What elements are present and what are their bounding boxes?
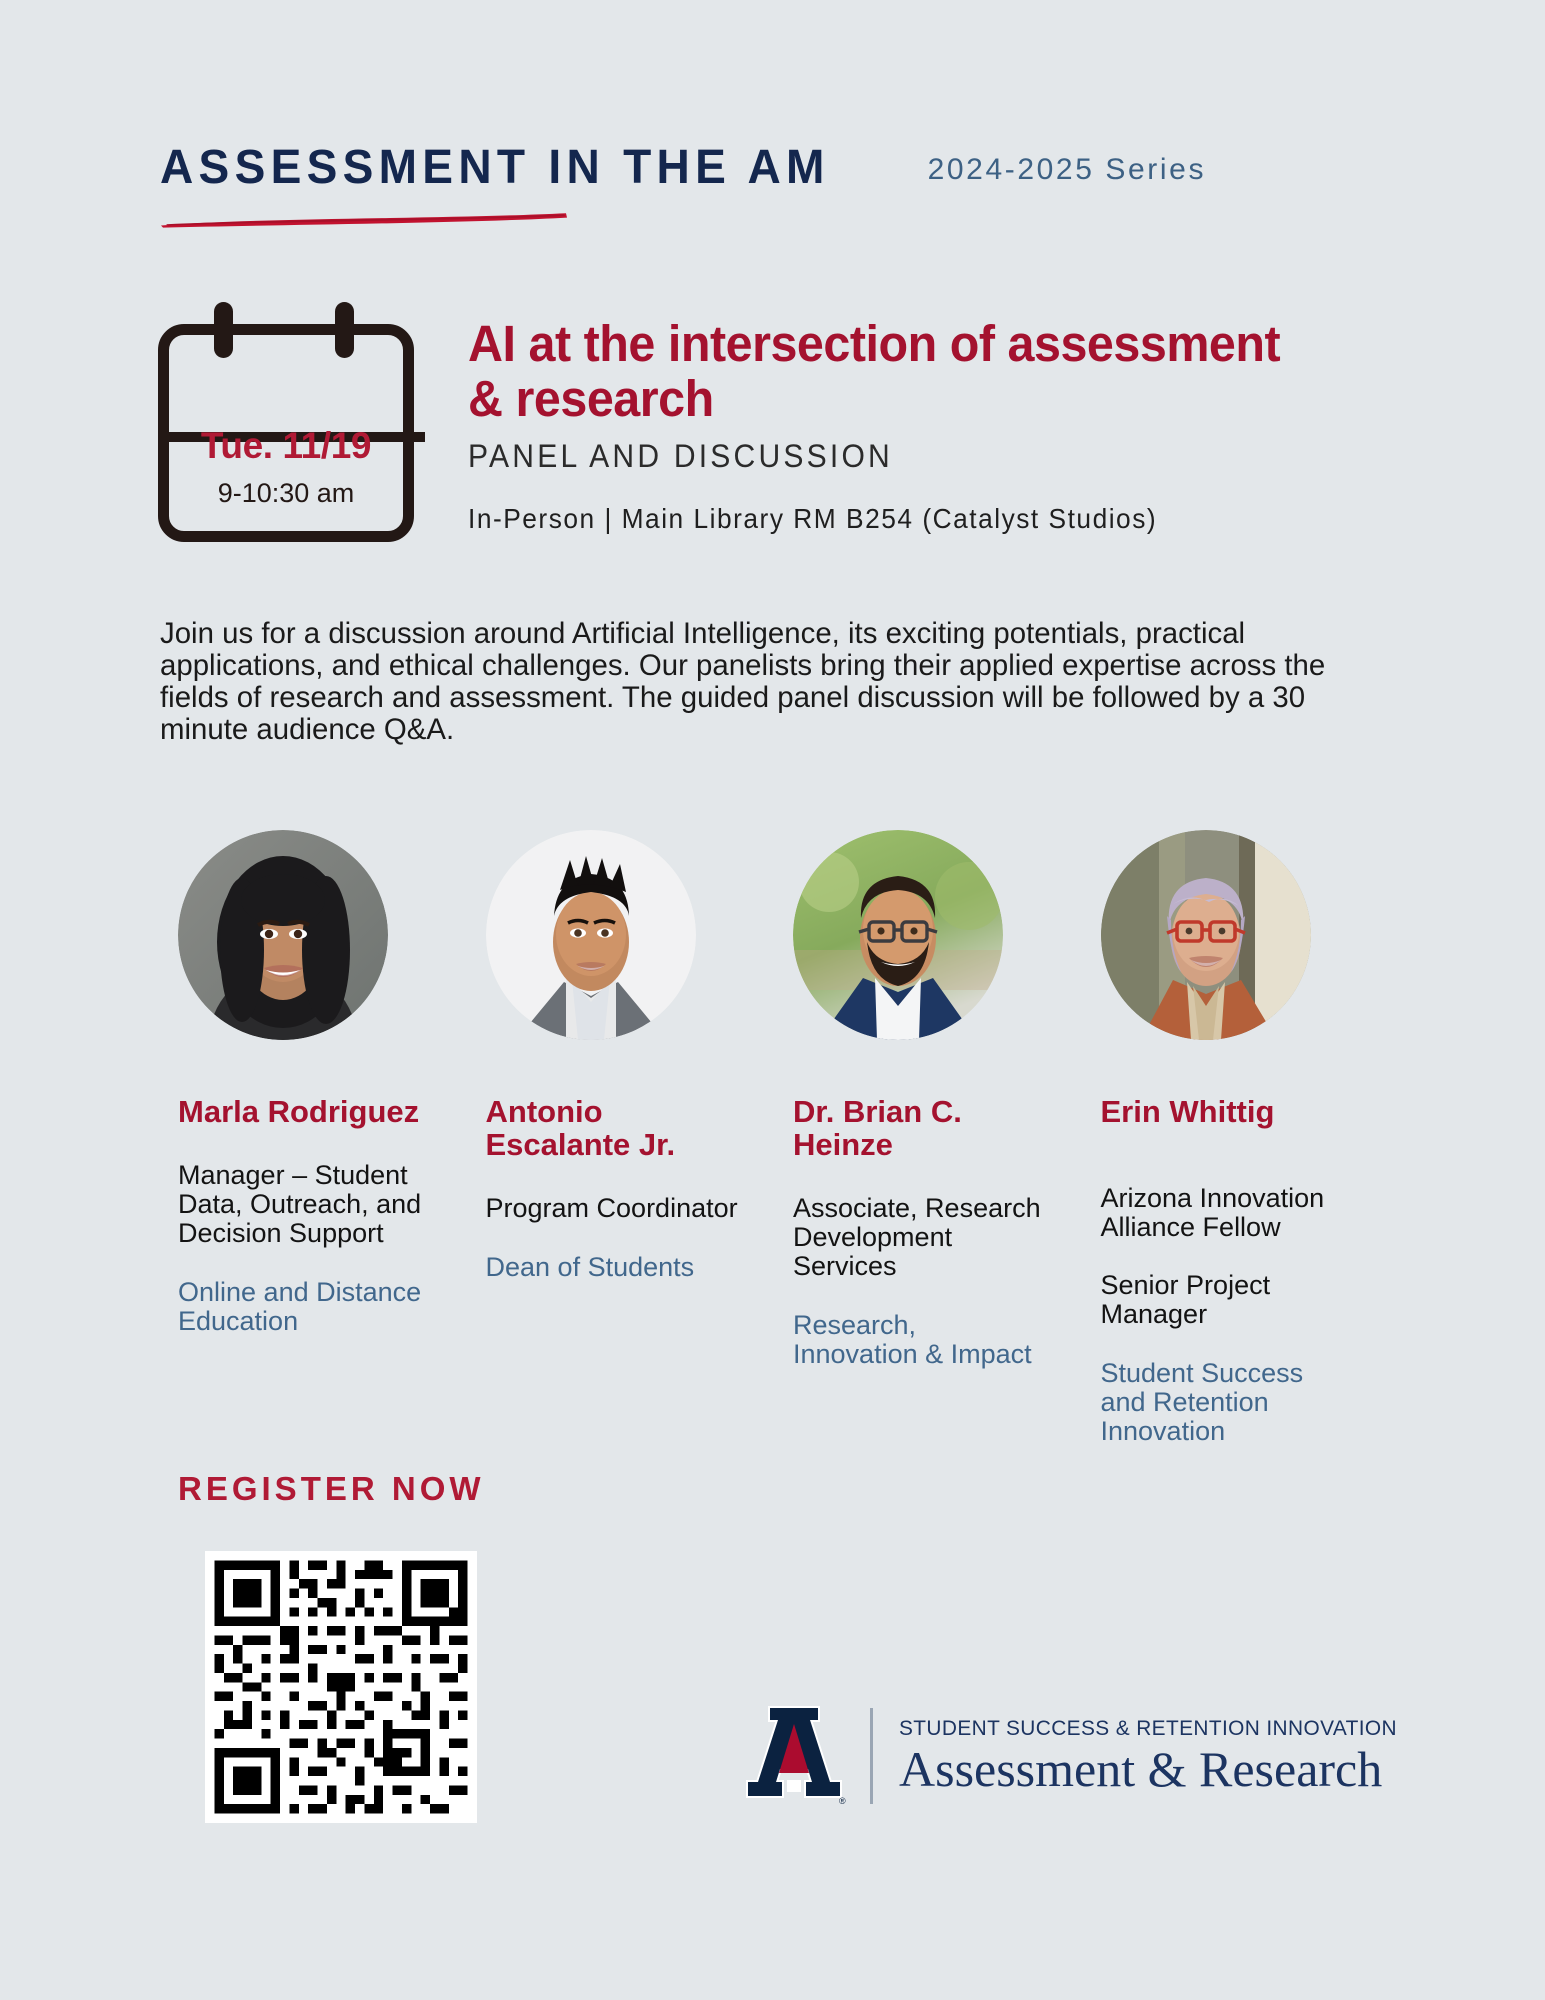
calendar-icon: Tue. 11/19 9-10:30 am <box>158 302 414 542</box>
register-now-label: REGISTER NOW <box>178 1470 485 1508</box>
poster-header: ASSESSMENT IN THE AM 2024-2025 Series <box>160 140 1400 195</box>
panelist-role: Associate, Research Development Services <box>793 1194 1047 1281</box>
panelist-name: Antonio Escalante Jr. <box>486 1095 740 1161</box>
headshot-marla-rodriguez <box>178 830 388 1040</box>
headshot-erin-whittig <box>1101 830 1311 1040</box>
event-date: Tue. 11/19 <box>158 425 414 467</box>
poster-canvas: ASSESSMENT IN THE AM 2024-2025 Series Tu… <box>0 0 1545 2000</box>
registration-qr-code[interactable] <box>205 1551 477 1823</box>
panelist-card: Dr. Brian C. Heinze Associate, Research … <box>793 830 1101 1446</box>
unit-logo: ® STUDENT SUCCESS & RETENTION INNOVATION… <box>740 1700 1412 1812</box>
panelist-card: Erin Whittig Arizona Innovation Alliance… <box>1101 830 1409 1446</box>
headshot-brian-heinze <box>793 830 1003 1040</box>
event-description: Join us for a discussion around Artifici… <box>160 618 1351 746</box>
panelist-role: Manager – Student Data, Outreach, and De… <box>178 1161 432 1248</box>
panelist-department: Dean of Students <box>486 1253 740 1282</box>
logo-divider <box>870 1708 873 1804</box>
panelist-role: Program Coordinator <box>486 1194 740 1223</box>
panelist-department: Research, Innovation & Impact <box>793 1311 1047 1369</box>
page-title: ASSESSMENT IN THE AM <box>160 140 830 195</box>
panelist-list: Marla Rodriguez Manager – Student Data, … <box>178 830 1408 1446</box>
headshot-antonio-escalante-jr <box>486 830 696 1040</box>
series-year-label: 2024-2025 Series <box>928 153 1206 187</box>
panelist-role: Arizona Innovation Alliance Fellow Senio… <box>1101 1184 1355 1329</box>
panelist-department: Student Success and Retention Innovation <box>1101 1359 1355 1446</box>
brush-underline-decoration <box>160 212 568 228</box>
panelist-card: Antonio Escalante Jr. Program Coordinato… <box>486 830 794 1446</box>
panelist-name: Erin Whittig <box>1101 1095 1355 1128</box>
event-title: AI at the intersection of assessment & r… <box>468 316 1323 426</box>
university-of-arizona-a-logo: ® <box>740 1700 848 1812</box>
event-location: In-Person | Main Library RM B254 (Cataly… <box>468 503 1314 535</box>
event-details: AI at the intersection of assessment & r… <box>468 316 1368 535</box>
logo-unit-line: STUDENT SUCCESS & RETENTION INNOVATION <box>899 1716 1397 1741</box>
event-time: 9-10:30 am <box>158 478 414 509</box>
panelist-department: Online and Distance Education <box>178 1278 432 1336</box>
event-format-label: PANEL AND DISCUSSION <box>468 438 1314 475</box>
panelist-name: Dr. Brian C. Heinze <box>793 1095 1047 1161</box>
logo-department: Assessment & Research <box>899 1741 1412 1797</box>
svg-text:®: ® <box>839 1796 846 1806</box>
panelist-card: Marla Rodriguez Manager – Student Data, … <box>178 830 486 1446</box>
panelist-name: Marla Rodriguez <box>178 1095 432 1128</box>
